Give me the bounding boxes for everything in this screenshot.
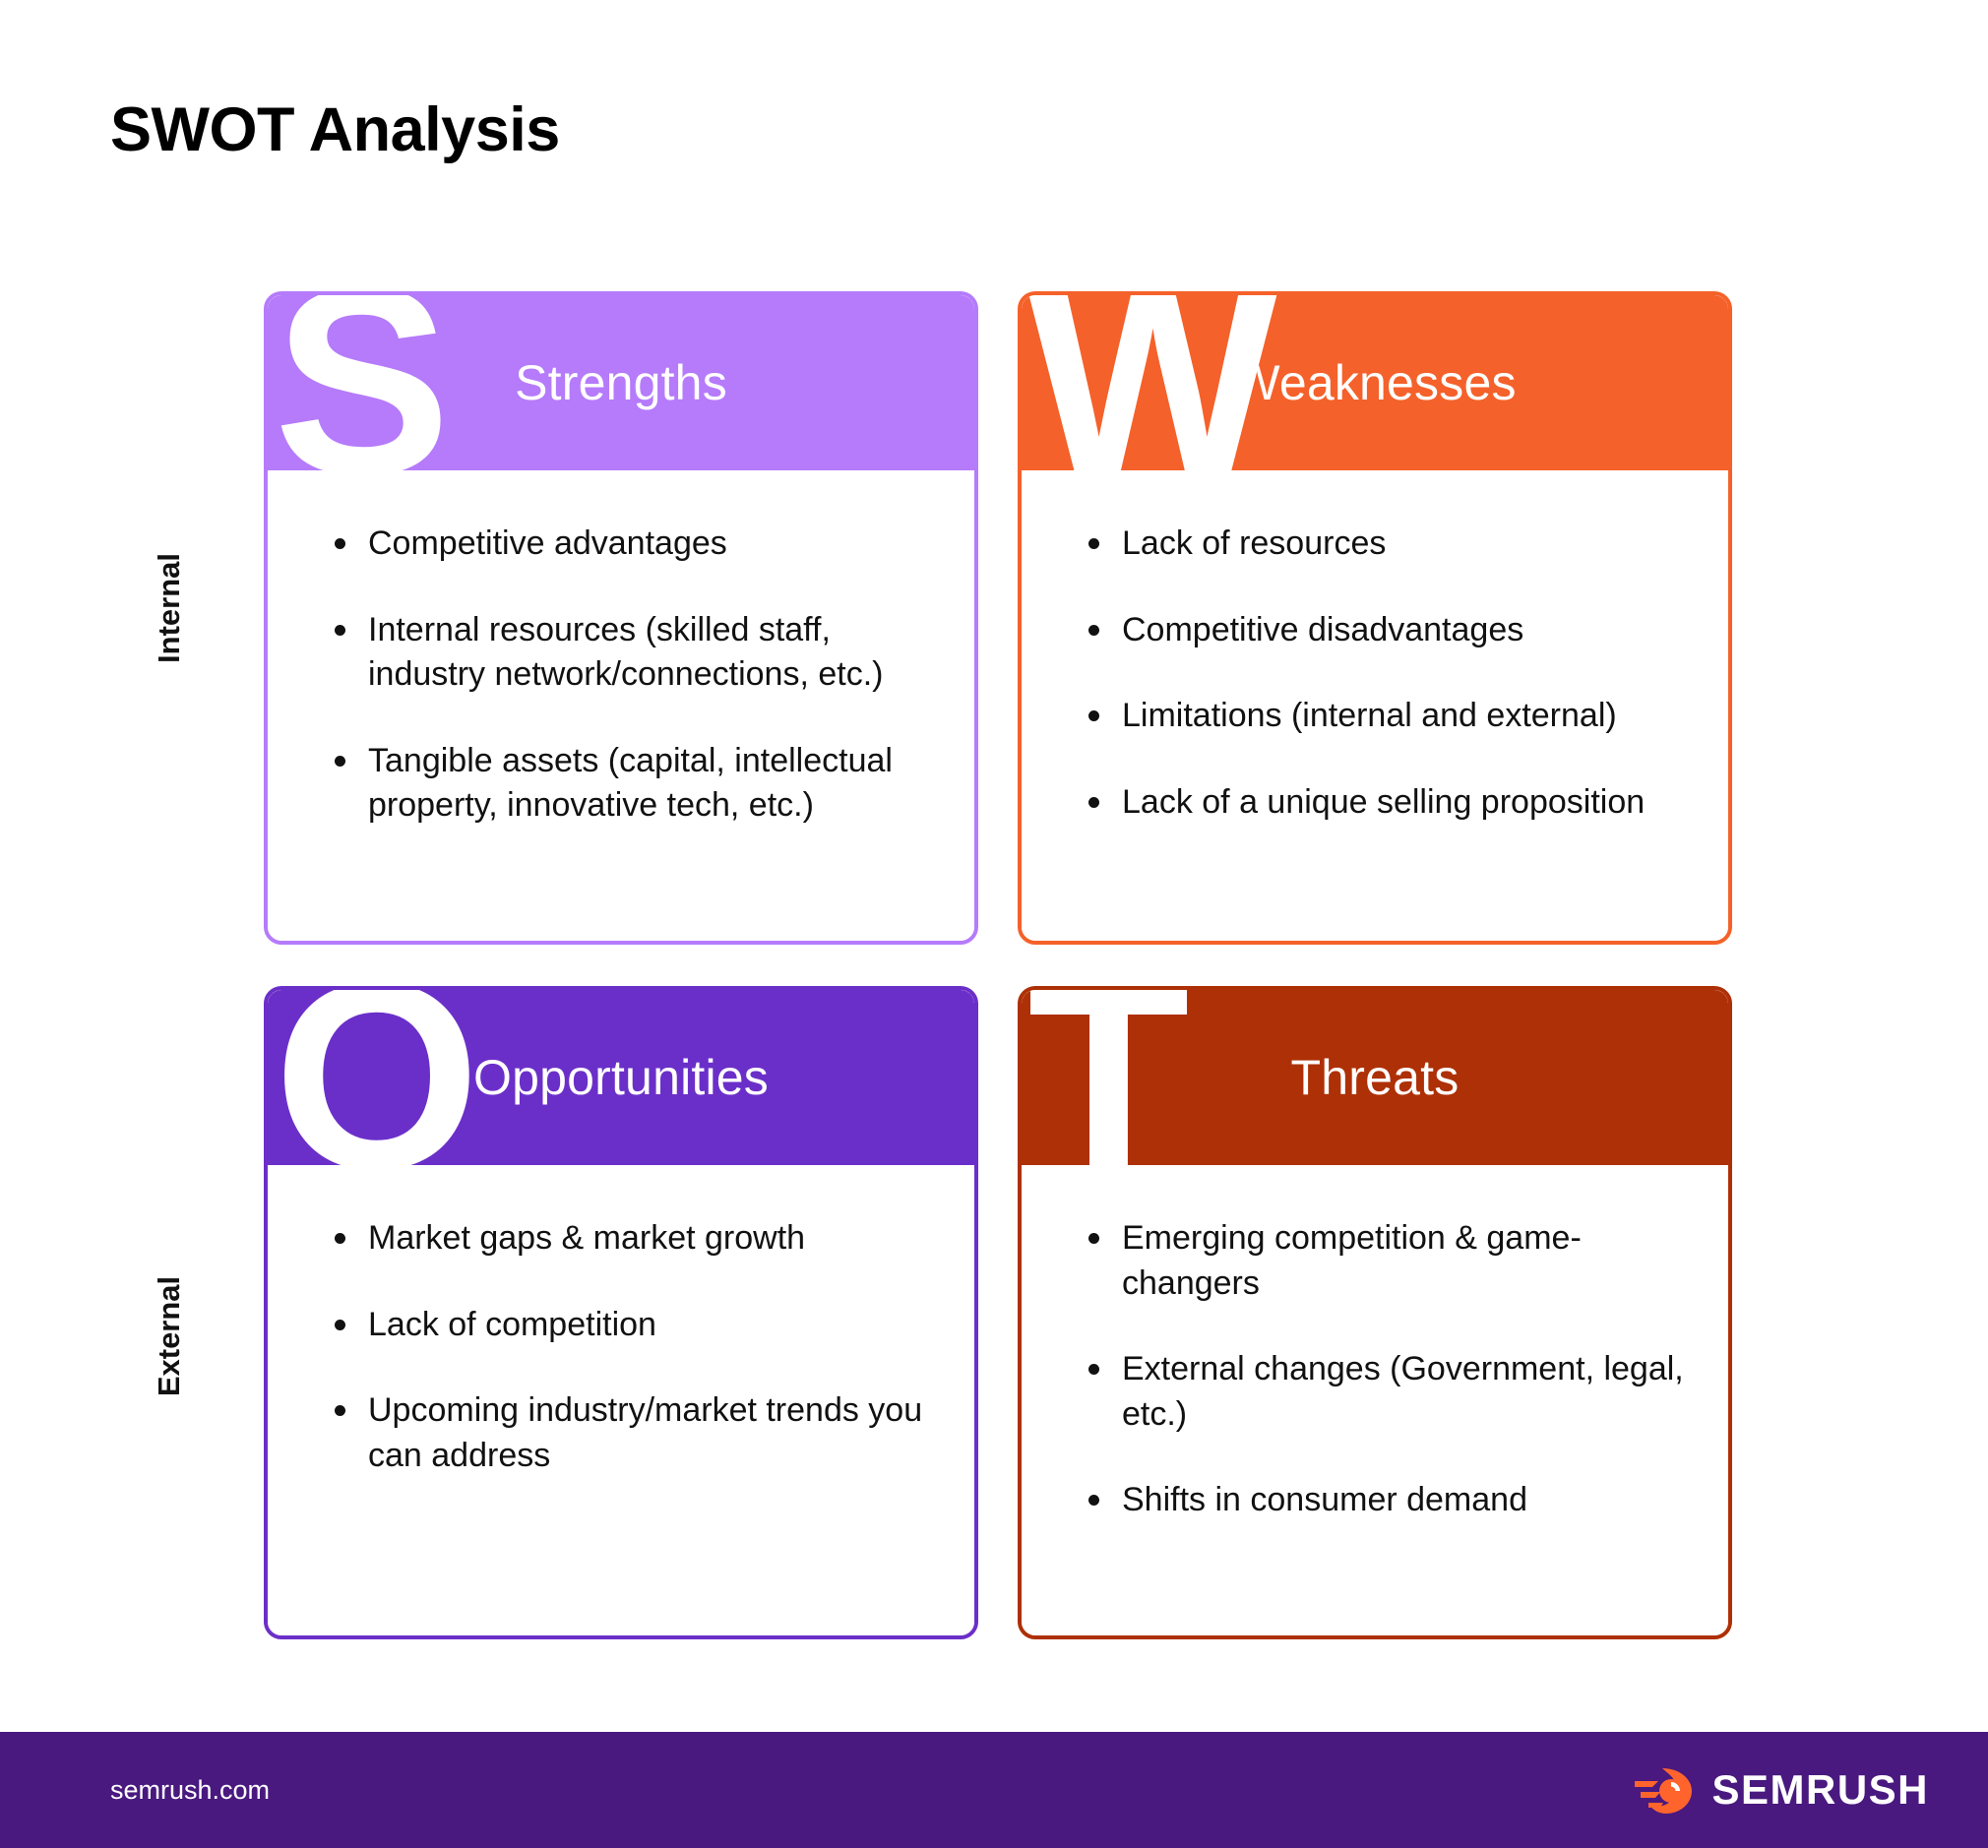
quadrant-opportunities: O Opportunities Market gaps & market gro… xyxy=(264,986,978,1639)
footer-url[interactable]: semrush.com xyxy=(110,1775,270,1806)
list-item: Lack of resources xyxy=(1079,522,1695,567)
quadrant-header-strengths: S Strengths xyxy=(268,295,974,470)
axis-label-external: External xyxy=(152,1248,187,1425)
bullet-list-weaknesses: Lack of resources Competitive disadvanta… xyxy=(1079,522,1695,825)
list-item: Lack of a unique selling proposition xyxy=(1079,780,1695,826)
footer-bar: semrush.com SEMRUSH xyxy=(0,1732,1988,1848)
big-letter-o: O xyxy=(274,986,480,1181)
quadrant-threats: T Threats Emerging competition & game-ch… xyxy=(1018,986,1732,1639)
quadrant-title-weaknesses: Weaknesses xyxy=(1233,354,1516,411)
big-letter-s: S xyxy=(274,291,451,486)
big-letter-t: T xyxy=(1027,986,1190,1181)
list-item: Internal resources (skilled staff, indus… xyxy=(325,608,941,698)
quadrant-body-opportunities: Market gaps & market growth Lack of comp… xyxy=(268,1165,974,1635)
list-item: Limitations (internal and external) xyxy=(1079,694,1695,739)
swot-matrix: S Strengths Competitive advantages Inter… xyxy=(264,291,1732,1639)
quadrant-strengths: S Strengths Competitive advantages Inter… xyxy=(264,291,978,945)
swot-analysis-infographic: SWOT Analysis Internal External S Streng… xyxy=(0,0,1988,1848)
bullet-list-opportunities: Market gaps & market growth Lack of comp… xyxy=(325,1216,941,1478)
quadrant-title-strengths: Strengths xyxy=(515,354,727,411)
semrush-logo: SEMRUSH xyxy=(1633,1762,1929,1817)
axis-label-internal: Internal xyxy=(152,520,187,697)
list-item: External changes (Government, legal, etc… xyxy=(1079,1347,1695,1437)
quadrant-weaknesses: W Weaknesses Lack of resources Competiti… xyxy=(1018,291,1732,945)
quadrant-header-threats: T Threats xyxy=(1022,990,1728,1165)
semrush-wordmark: SEMRUSH xyxy=(1711,1766,1929,1814)
quadrant-body-strengths: Competitive advantages Internal resource… xyxy=(268,470,974,941)
bullet-list-strengths: Competitive advantages Internal resource… xyxy=(325,522,941,829)
list-item: Upcoming industry/market trends you can … xyxy=(325,1388,941,1478)
list-item: Shifts in consumer demand xyxy=(1079,1478,1695,1523)
list-item: Tangible assets (capital, intellectual p… xyxy=(325,739,941,829)
list-item: Competitive disadvantages xyxy=(1079,608,1695,653)
quadrant-header-weaknesses: W Weaknesses xyxy=(1022,295,1728,470)
quadrant-body-threats: Emerging competition & game-changers Ext… xyxy=(1022,1165,1728,1635)
list-item: Lack of competition xyxy=(325,1303,941,1348)
semrush-comet-icon xyxy=(1633,1762,1694,1817)
list-item: Market gaps & market growth xyxy=(325,1216,941,1262)
quadrant-body-weaknesses: Lack of resources Competitive disadvanta… xyxy=(1022,470,1728,941)
quadrant-header-opportunities: O Opportunities xyxy=(268,990,974,1165)
bullet-list-threats: Emerging competition & game-changers Ext… xyxy=(1079,1216,1695,1523)
list-item: Emerging competition & game-changers xyxy=(1079,1216,1695,1306)
page-title: SWOT Analysis xyxy=(110,96,560,164)
list-item: Competitive advantages xyxy=(325,522,941,567)
quadrant-title-opportunities: Opportunities xyxy=(473,1049,769,1106)
quadrant-title-threats: Threats xyxy=(1291,1049,1460,1106)
